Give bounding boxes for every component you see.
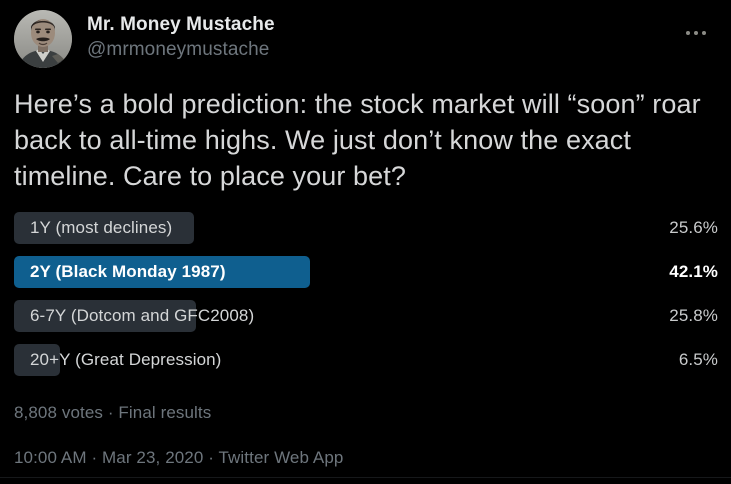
dot-3 — [702, 31, 706, 35]
tweet-header: Mr. Money Mustache @mrmoneymustache — [14, 10, 717, 70]
bottom-divider — [0, 477, 731, 478]
poll-option-percent: 6.5% — [679, 344, 718, 376]
poll-option-percent: 42.1% — [669, 256, 718, 288]
poll-option-percent: 25.8% — [669, 300, 718, 332]
display-name[interactable]: Mr. Money Mustache — [87, 13, 275, 37]
more-options-icon[interactable] — [679, 22, 713, 44]
poll-option-percent: 25.6% — [669, 212, 718, 244]
poll-option-label: 20+Y (Great Depression) — [30, 344, 221, 376]
dot-1 — [686, 31, 690, 35]
tweet-timestamp: 10:00 AM · Mar 23, 2020 · Twitter Web Ap… — [14, 448, 343, 468]
identity-block: Mr. Money Mustache @mrmoneymustache — [87, 13, 275, 62]
tweet-card: Mr. Money Mustache @mrmoneymustache Here… — [0, 0, 731, 484]
poll-meta: 8,808 votes · Final results — [14, 403, 211, 423]
poll-option-row[interactable]: 2Y (Black Monday 1987) 42.1% — [14, 256, 718, 288]
tweet-text: Here’s a bold prediction: the stock mark… — [14, 86, 714, 194]
avatar[interactable] — [14, 10, 72, 68]
poll-option-label: 1Y (most declines) — [30, 212, 172, 244]
dot-2 — [694, 31, 698, 35]
account-handle[interactable]: @mrmoneymustache — [87, 37, 275, 62]
poll-option-label: 2Y (Black Monday 1987) — [30, 256, 226, 288]
poll-option-row[interactable]: 1Y (most declines) 25.6% — [14, 212, 718, 244]
avatar-photo-icon — [14, 10, 72, 68]
poll-option-row[interactable]: 6-7Y (Dotcom and GFC2008) 25.8% — [14, 300, 718, 332]
poll: 1Y (most declines) 25.6% 2Y (Black Monda… — [14, 212, 718, 388]
poll-option-label: 6-7Y (Dotcom and GFC2008) — [30, 300, 254, 332]
poll-option-row[interactable]: 20+Y (Great Depression) 6.5% — [14, 344, 718, 376]
